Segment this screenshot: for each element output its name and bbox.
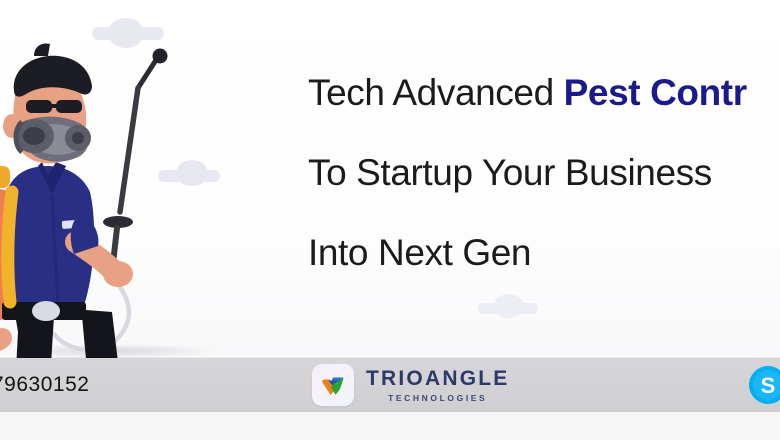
headline-line-1: Tech Advanced Pest Contr — [308, 74, 780, 111]
cloud-decoration-lower — [478, 294, 538, 314]
headline-block: Tech Advanced Pest Contr To Startup Your… — [308, 74, 780, 271]
promo-banner: Tech Advanced Pest Contr To Startup Your… — [0, 0, 780, 440]
cloud-body — [478, 303, 538, 314]
pest-control-worker-illustration — [0, 16, 222, 364]
skype-letter: S — [761, 373, 776, 398]
headline-line-1-plain: Tech Advanced — [308, 72, 564, 113]
brand-name: TRIOANGLE — [366, 368, 509, 389]
headline-accent-text: Pest Contr — [564, 72, 747, 113]
bottom-contact-bar: 79630152 TRIOANGLE TECHNOLOGIES — [0, 358, 780, 412]
worker-head — [3, 44, 92, 164]
skype-icon[interactable]: S — [748, 365, 780, 405]
brand-text-block: TRIOANGLE TECHNOLOGIES — [366, 368, 509, 403]
spray-wand — [103, 49, 168, 273]
bottom-strip-below-bar — [0, 412, 780, 440]
phone-number-text[interactable]: 79630152 — [0, 373, 89, 397]
brand-tagline: TECHNOLOGIES — [388, 394, 487, 403]
headline-line-3: Into Next Gen — [308, 234, 780, 271]
brand-lockup[interactable]: TRIOANGLE TECHNOLOGIES — [312, 364, 509, 406]
headline-line-2: To Startup Your Business — [308, 154, 780, 191]
trioangle-logo-icon — [312, 364, 354, 406]
backpack-strap — [8, 192, 12, 302]
